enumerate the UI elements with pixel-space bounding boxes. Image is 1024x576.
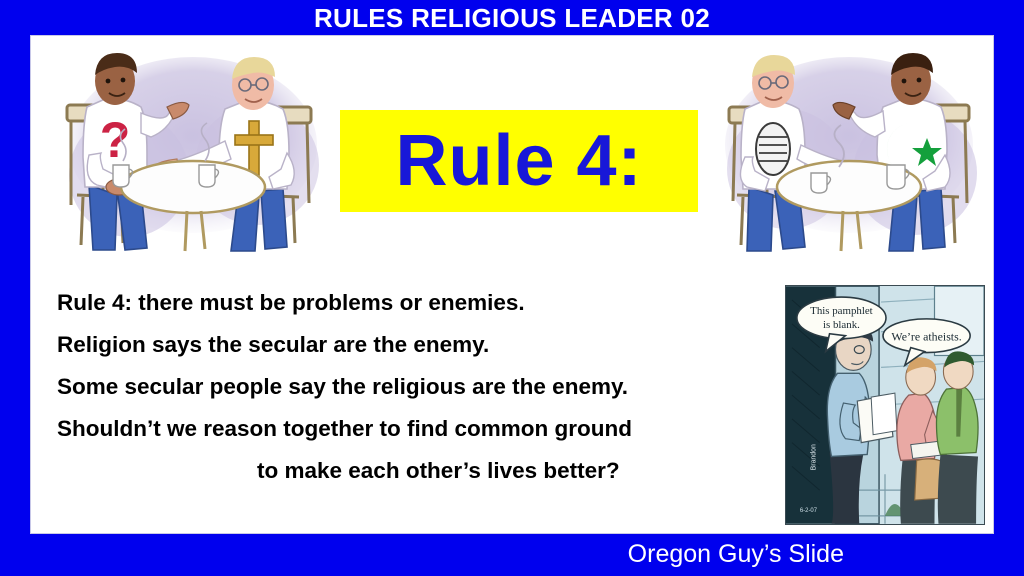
rule-banner: Rule 4:: [340, 110, 698, 212]
slide-footer-bar: Oregon Guy’s Slide: [0, 533, 1024, 576]
page-title: RULES RELIGIOUS LEADER 02: [314, 3, 710, 34]
body-line-5: to make each other’s lives better?: [57, 450, 797, 492]
body-copy: Rule 4: there must be problems or enemie…: [57, 282, 797, 492]
atheists-at-the-door-comic: This pamphlet is blank. We’re atheists. …: [785, 285, 985, 525]
body-line-1: Rule 4: there must be problems or enemie…: [57, 282, 797, 324]
cartoon-date-mark: 6-2-07: [800, 508, 817, 514]
body-line-2: Religion says the secular are the enemy.: [57, 324, 797, 366]
ichthys-fish-shirt-symbol: [756, 123, 790, 175]
content-panel: ?: [31, 36, 993, 533]
svg-text:?: ?: [100, 112, 131, 168]
speech-bubble-1-text: This pamphlet: [810, 305, 873, 317]
speech-bubble-2-text: We’re atheists.: [891, 330, 961, 344]
question-mark-shirt-symbol: ?: [100, 112, 131, 168]
footer-label: Oregon Guy’s Slide: [628, 540, 1024, 569]
cartoon-signature: Brandon: [811, 444, 818, 470]
illustration-right-fish-crescent: [715, 45, 985, 261]
body-line-4: Shouldn’t we reason together to find com…: [57, 408, 797, 450]
slide-title-bar: RULES RELIGIOUS LEADER 02: [0, 0, 1024, 36]
rule-banner-label: Rule 4:: [395, 125, 642, 197]
speech-bubble-1-text-2: is blank.: [823, 319, 860, 331]
illustration-left-question-cross: ?: [59, 45, 329, 261]
body-line-3: Some secular people say the religious ar…: [57, 366, 797, 408]
slide: RULES RELIGIOUS LEADER 02: [0, 0, 1024, 576]
